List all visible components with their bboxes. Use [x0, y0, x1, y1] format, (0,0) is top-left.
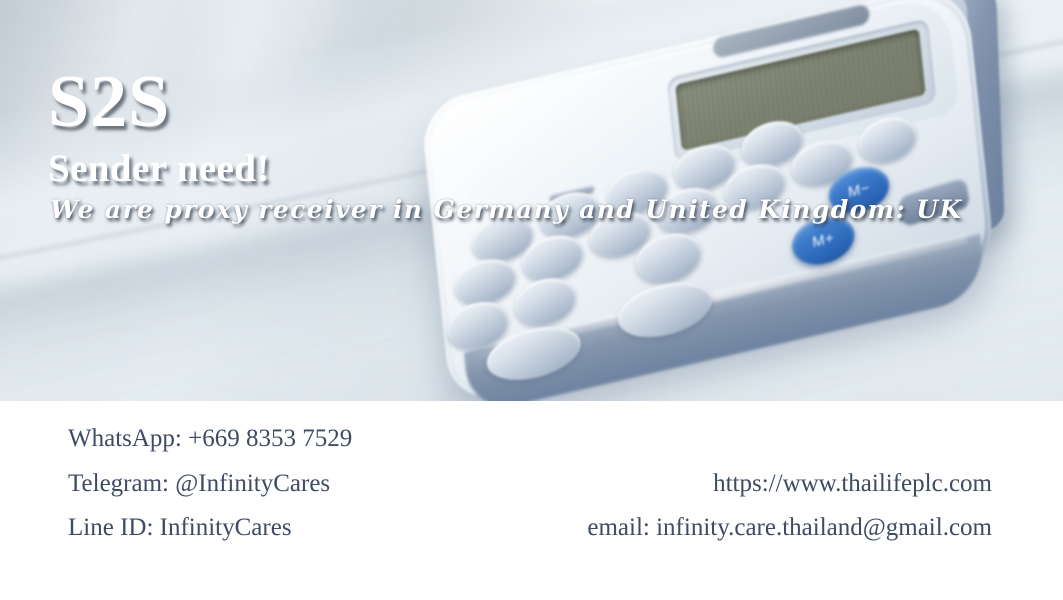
calculator-key-label [515, 295, 575, 309]
calculator-key-label [590, 227, 650, 241]
calculator-key-label [487, 343, 581, 365]
contact-telegram[interactable]: Telegram: @InfinityCares [68, 471, 330, 496]
calculator-key-label [455, 274, 515, 288]
contact-website-url[interactable]: https://www.thailifeplc.com [713, 471, 992, 496]
hero-tagline: We are proxy receiver in Germany and Uni… [50, 196, 888, 225]
contact-whatsapp[interactable]: WhatsApp: +669 8353 7529 [68, 426, 352, 451]
contact-line-id[interactable]: Line ID: InfinityCares [68, 515, 292, 540]
contact-footer: WhatsApp: +669 8353 7529 Telegram: @Infi… [0, 401, 1063, 600]
calculator-key-label [473, 231, 533, 245]
business-card-banner: M−M+ S2S Sender need! We are proxy recei… [0, 0, 1063, 600]
calculator-key-label [522, 251, 582, 265]
calculator-key-label [636, 250, 700, 265]
calculator-key-label: M+ [791, 225, 855, 256]
brand-title: S2S [48, 66, 888, 139]
contact-email[interactable]: email: infinity.care.thailand@gmail.com [587, 515, 992, 540]
hero-text-block: S2S Sender need! We are proxy receiver i… [48, 66, 888, 225]
calculator-key-label [618, 299, 712, 321]
hero-photo-area: M−M+ S2S Sender need! We are proxy recei… [0, 0, 1063, 401]
calculator-key-label [448, 318, 508, 332]
hero-subtitle: Sender need! [48, 149, 888, 190]
